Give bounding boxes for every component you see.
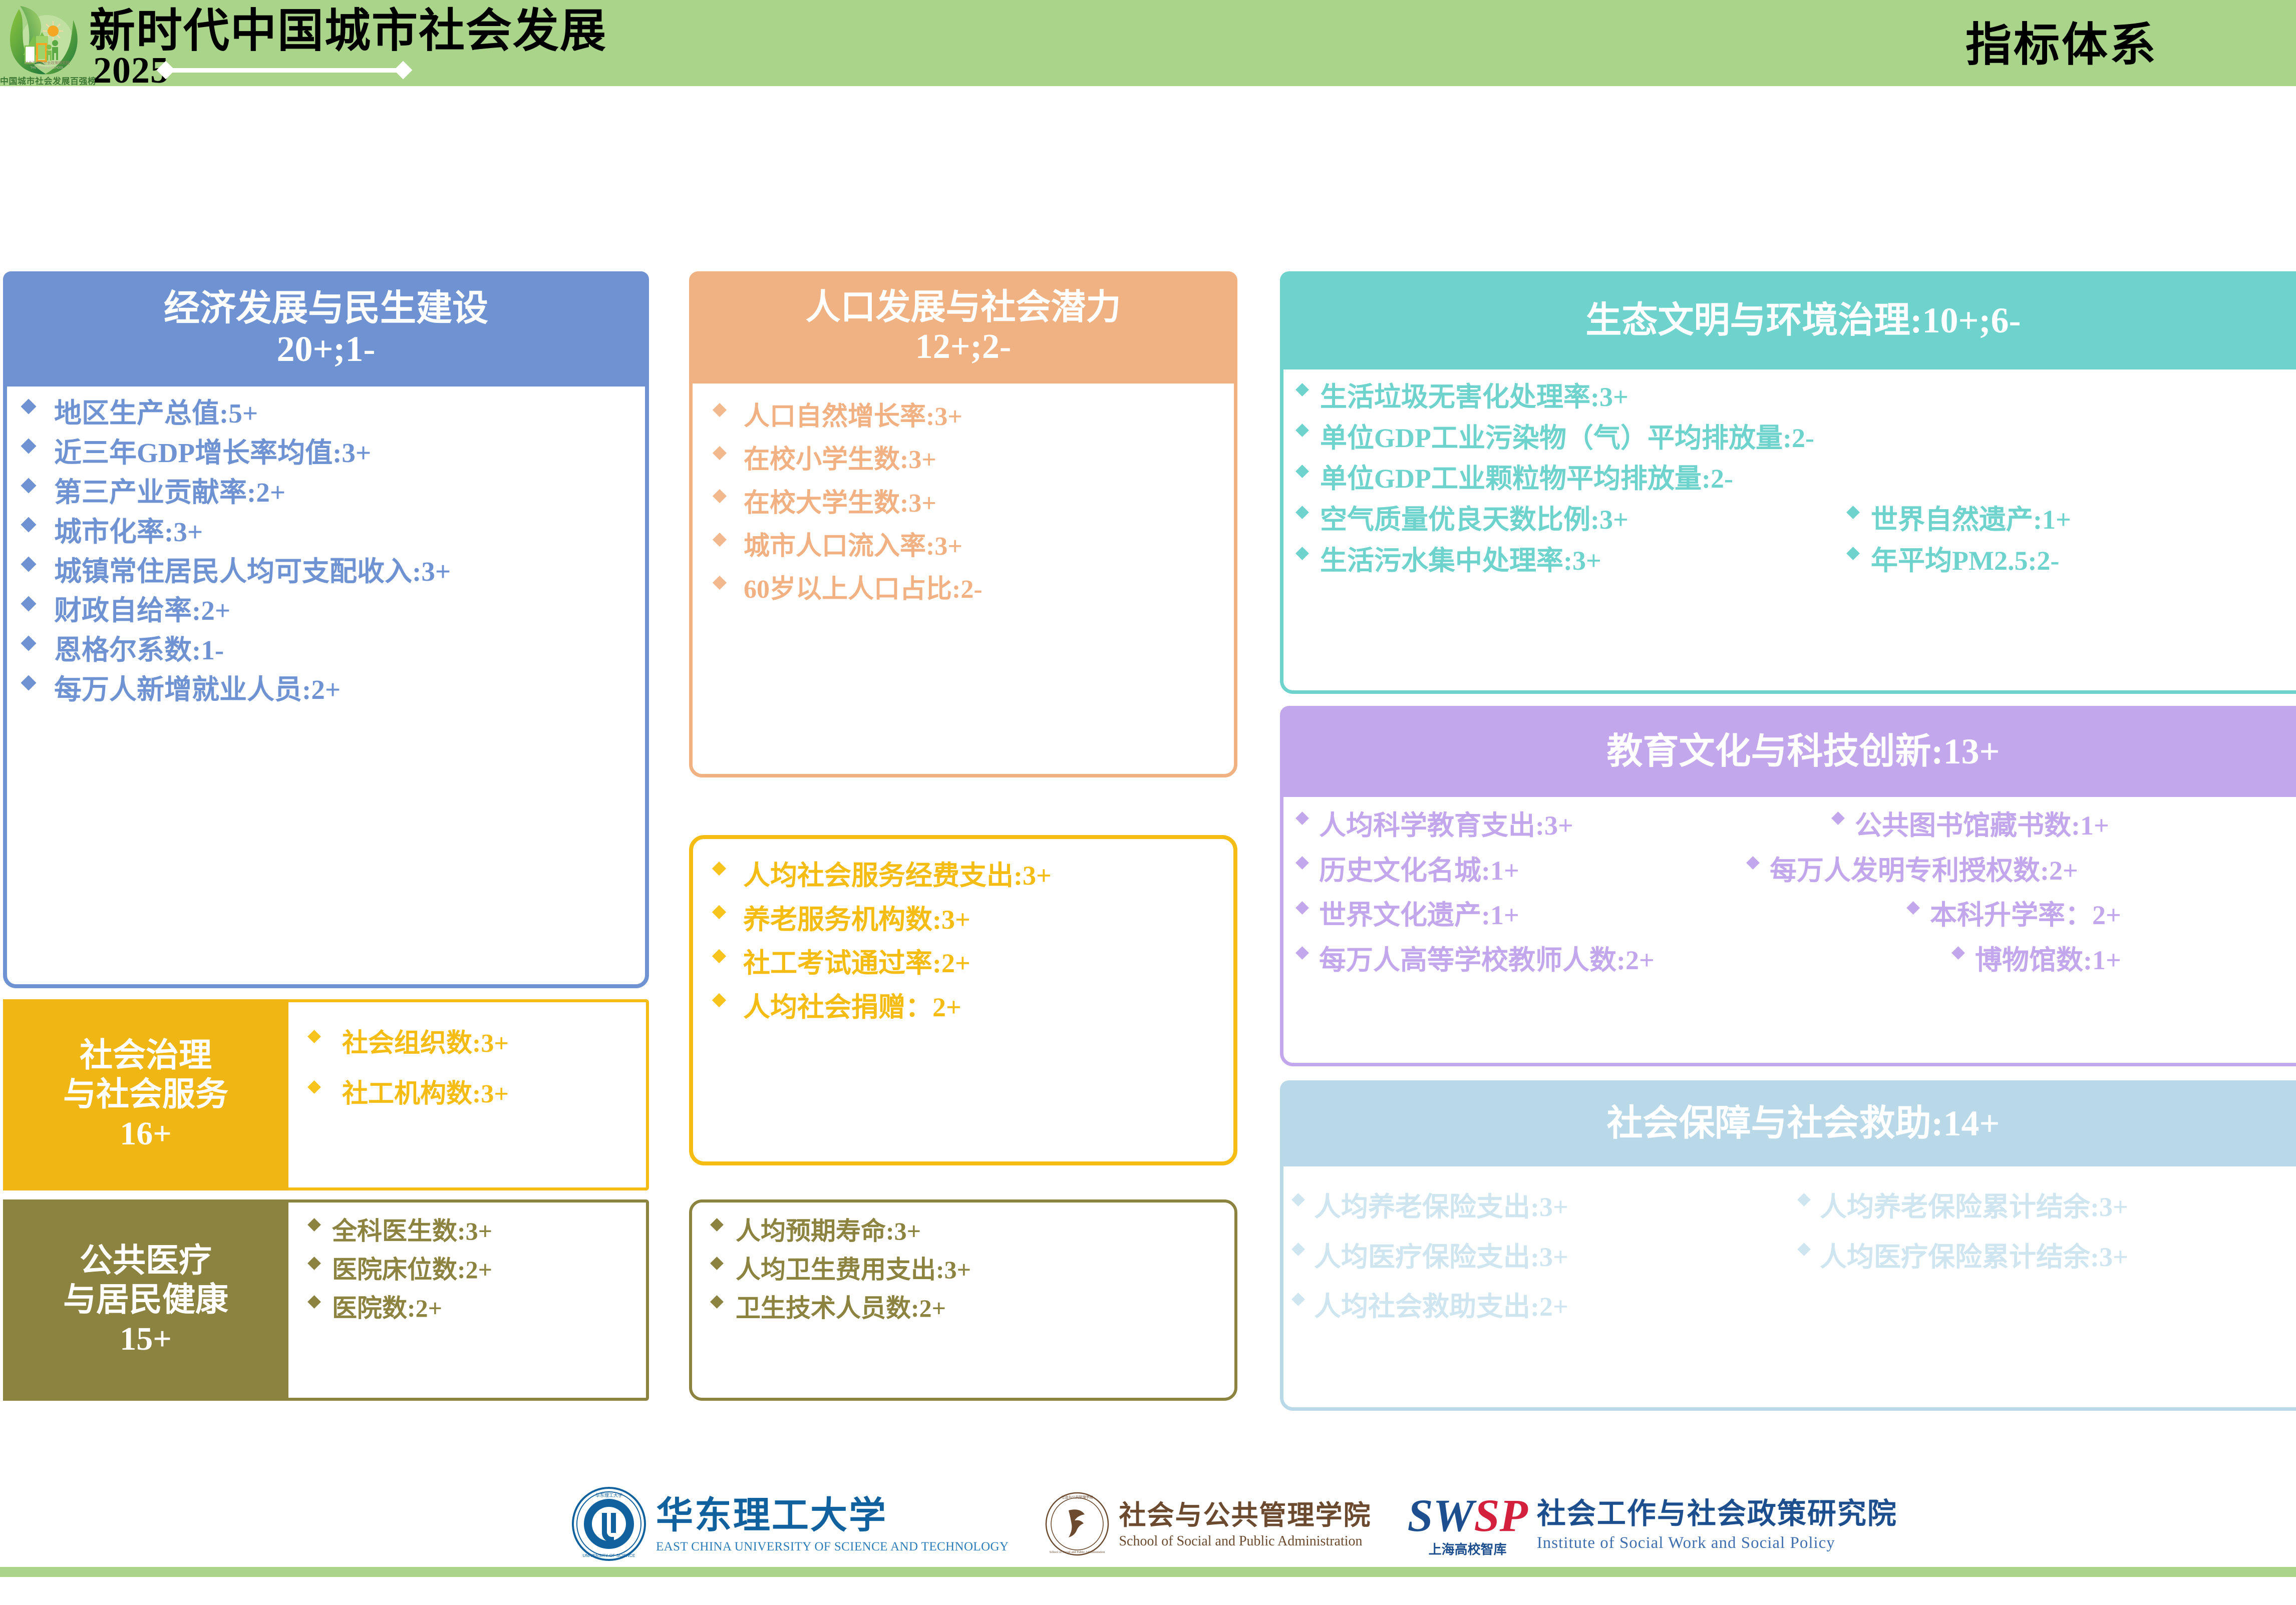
diamond-bullet-icon [713, 533, 727, 547]
list-item[interactable]: 单位GDP工业污染物（气）平均排放量:2- [1294, 423, 2296, 455]
list-item[interactable]: 城镇常住居民人均可支配收入:3+ [16, 556, 638, 588]
footer-logo-group: 华东理工大学 UNIVERSITY OF SCIENCE 华东理工大学 EAST… [571, 1486, 1897, 1564]
diamond-bullet-icon [1295, 901, 1309, 915]
list-item[interactable]: 在校大学生数:3+ [715, 488, 1229, 519]
list-item-label: 财政自给率:2+ [54, 595, 230, 627]
list-item-label: 地区生产总值:5+ [54, 397, 258, 430]
list-row: 人均养老保险支出:3+ 人均养老保险累计结余:3+ [1290, 1191, 2296, 1224]
diamond-bullet-icon [1951, 946, 1965, 960]
card-economy-header: 经济发展与民生建设 20+;1- [3, 271, 649, 386]
list-item[interactable]: 生活污水集中处理率:3+ [1294, 545, 1845, 577]
list-item[interactable]: 人均养老保险累计结余:3+ [1796, 1191, 2128, 1224]
list-item-label: 生活垃圾无害化处理率:3+ [1320, 381, 1628, 414]
card-economy-list: 地区生产总值:5+ 近三年GDP增长率均值:3+ 第三产业贡献率:2+ 城市化率… [7, 386, 645, 706]
list-item-label: 人均养老保险支出:3+ [1314, 1191, 1568, 1224]
card-governance-title-1: 社会治理 [80, 1036, 212, 1075]
list-item[interactable]: 财政自给率:2+ [16, 595, 638, 627]
list-item-label: 人均医疗保险支出:3+ [1314, 1242, 1568, 1274]
list-item[interactable]: 近三年GDP增长率均值:3+ [16, 437, 638, 470]
list-item[interactable]: 世界文化遗产:1+ [1294, 900, 1905, 932]
diamond-bullet-icon [1797, 1193, 1811, 1207]
svg-text:THE CASE OF SCHOOL: THE CASE OF SCHOOL [30, 67, 64, 70]
list-item[interactable]: 在校小学生数:3+ [715, 445, 1229, 475]
swsp-mark-sub: 上海高校智库 [1407, 1539, 1527, 1558]
list-item-label: 全科医生数:3+ [332, 1217, 492, 1246]
card-social-security-list: 人均养老保险支出:3+ 人均养老保险累计结余:3+ 人均医疗保险支出:3+ 人均… [1283, 1166, 2296, 1323]
list-item-label: 人均社会服务经费支出:3+ [743, 860, 1052, 892]
list-item-label: 博物馆数:1+ [1975, 945, 2121, 977]
diamond-bullet-icon [21, 596, 36, 612]
diamond-bullet-icon [21, 438, 36, 454]
list-row: 每万人高等学校教师人数:2+ 博物馆数:1+ [1294, 945, 2296, 977]
list-item[interactable]: 社工考试通过率:2+ [714, 948, 1224, 980]
list-item[interactable]: 人均养老保险支出:3+ [1290, 1191, 1796, 1224]
list-item-label: 本科升学率：2+ [1930, 900, 2121, 932]
card-governance-header: 社会治理 与社会服务 16+ [3, 999, 288, 1190]
svg-text:华东理工大学: 华东理工大学 [595, 1492, 622, 1498]
list-item-label: 城市化率:3+ [54, 516, 203, 549]
diamond-bullet-icon [710, 1218, 724, 1232]
card-population-list: 人口自然增长率:3+ 在校小学生数:3+ 在校大学生数:3+ 城市人口流入率:3… [693, 383, 1234, 605]
swsp-mark-blue: SW [1407, 1490, 1474, 1541]
list-item[interactable]: 人口自然增长率:3+ [715, 402, 1229, 432]
card-economy-count: 20+;1- [277, 329, 376, 369]
card-social-security-header: 社会保障与社会救助:14+ [1280, 1080, 2296, 1166]
list-item[interactable]: 博物馆数:1+ [1950, 945, 2121, 977]
diamond-bullet-icon [1295, 465, 1309, 478]
card-ecology: 生态文明与环境治理:10+;6- 生活垃圾无害化处理率:3+ 单位GDP工业污染… [1280, 271, 2296, 694]
diamond-bullet-icon [712, 949, 726, 963]
card-social-security: 社会保障与社会救助:14+ 人均养老保险支出:3+ 人均养老保险累计结余:3+ … [1280, 1080, 2296, 1411]
card-health-title-2: 与居民健康 [63, 1281, 228, 1320]
list-item-label: 单位GDP工业污染物（气）平均排放量:2- [1320, 423, 1814, 455]
list-row: 人均科学教育支出:3+ 公共图书馆藏书数:1+ [1294, 810, 2296, 842]
card-health-right: 人均预期寿命:3+ 人均卫生费用支出:3+ 卫生技术人员数:2+ [689, 1199, 1237, 1401]
diamond-bullet-icon [1831, 812, 1845, 825]
card-governance-title-2: 与社会服务 [63, 1075, 228, 1114]
list-item[interactable]: 养老服务机构数:3+ [714, 904, 1224, 936]
list-item[interactable]: 60岁以上人口占比:2- [715, 574, 1229, 605]
list-item[interactable]: 全科医生数:3+ [300, 1217, 643, 1246]
diamond-bullet-icon [1295, 506, 1309, 519]
list-item-label: 城镇常住居民人均可支配收入:3+ [54, 556, 451, 588]
card-education-list: 人均科学教育支出:3+ 公共图书馆藏书数:1+ 历史文化名城:1+ 每万人发明专… [1283, 797, 2296, 977]
diamond-bullet-icon [1797, 1243, 1811, 1257]
swsp-mark-red: SP [1474, 1490, 1527, 1541]
list-item[interactable]: 历史文化名城:1+ [1294, 855, 1745, 887]
school-name-cn: 社会与公共管理学院 [1119, 1501, 1371, 1530]
swsp-wordmark-icon: SWSP 上海高校智库 [1407, 1492, 1527, 1558]
list-row: 空气质量优良天数比例:3+ 世界自然遗产:1+ [1294, 504, 2296, 536]
card-health-title-1: 公共医疗 [80, 1242, 212, 1281]
list-item-label: 人均科学教育支出:3+ [1319, 810, 1573, 842]
diamond-bullet-icon [713, 446, 727, 460]
page-title: 新时代中国城市社会发展 [89, 8, 607, 54]
card-social-security-title: 社会保障与社会救助:14+ [1606, 1103, 2000, 1144]
list-item[interactable]: 每万人新增就业人员:2+ [16, 674, 638, 706]
list-item[interactable]: 人均社会救助支出:2+ [1290, 1291, 2296, 1323]
diamond-bullet-icon [1295, 946, 1309, 960]
list-item[interactable]: 空气质量优良天数比例:3+ [1294, 504, 1845, 536]
diamond-bullet-icon [21, 675, 36, 690]
list-item-label: 恩格尔系数:1- [54, 634, 224, 667]
list-item[interactable]: 人均社会服务经费支出:3+ [714, 860, 1224, 892]
diamond-bullet-icon [21, 478, 36, 493]
list-item[interactable]: 年平均PM2.5:2- [1845, 545, 2059, 577]
list-item[interactable]: 世界自然遗产:1+ [1845, 504, 2071, 536]
page-header: 社会工作与社会政策研究院 THE CASE OF SCHOOL 中国城市社会发展… [0, 0, 2296, 86]
card-population: 人口发展与社会潜力 12+;2- 人口自然增长率:3+ 在校小学生数:3+ 在校… [689, 271, 1237, 777]
list-item-label: 人均医疗保险累计结余:3+ [1820, 1242, 2128, 1274]
list-item[interactable]: 医院床位数:2+ [300, 1255, 643, 1285]
list-item-label: 年平均PM2.5:2- [1871, 545, 2059, 577]
card-social-service: 人均社会服务经费支出:3+ 养老服务机构数:3+ 社工考试通过率:2+ 人均社会… [689, 835, 1237, 1165]
diamond-bullet-icon [1291, 1243, 1305, 1257]
diamond-bullet-icon [21, 636, 36, 651]
card-health: 公共医疗 与居民健康 15+ 全科医生数:3+ 医院床位数:2+ 医院数:2+ [3, 1199, 649, 1401]
card-population-header: 人口发展与社会潜力 12+;2- [689, 271, 1237, 383]
list-item[interactable]: 城市人口流入率:3+ [715, 531, 1229, 562]
diamond-bullet-icon [712, 905, 726, 919]
footer-green-bar [0, 1567, 2296, 1577]
svg-text:UNIVERSITY OF SCIENCE: UNIVERSITY OF SCIENCE [582, 1553, 635, 1558]
swsp-name-cn: 社会工作与社会政策研究院 [1537, 1499, 1897, 1529]
diamond-bullet-icon [713, 489, 727, 503]
divider-diamond-right [394, 61, 413, 80]
list-item-label: 空气质量优良天数比例:3+ [1320, 504, 1628, 536]
diamond-bullet-icon [1291, 1293, 1305, 1306]
diamond-bullet-icon [712, 862, 726, 876]
diamond-bullet-icon [713, 403, 727, 417]
diamond-bullet-icon [1746, 857, 1760, 870]
list-item[interactable]: 本科升学率：2+ [1905, 900, 2121, 932]
card-health-count: 15+ [120, 1320, 172, 1359]
list-item[interactable]: 第三产业贡献率:2+ [16, 477, 638, 509]
card-ecology-title: 生态文明与环境治理:10+;6- [1586, 300, 2021, 341]
list-row: 世界文化遗产:1+ 本科升学率：2+ [1294, 900, 2296, 932]
list-item-label: 人均养老保险累计结余:3+ [1820, 1191, 2128, 1224]
diamond-bullet-icon [1295, 547, 1309, 560]
list-item-label: 世界文化遗产:1+ [1319, 900, 1519, 932]
brand-logo: 社会工作与社会政策研究院 THE CASE OF SCHOOL [4, 2, 89, 86]
list-item[interactable]: 每万人发明专利授权数:2+ [1745, 855, 2078, 887]
list-item[interactable]: 医院数:2+ [300, 1294, 643, 1323]
school-seal-icon: 社会与公共管理学院 School of Social and Public Ad… [1045, 1491, 1110, 1559]
list-row: 生活污水集中处理率:3+ 年平均PM2.5:2- [1294, 545, 2296, 577]
diamond-bullet-icon [21, 517, 36, 533]
list-item-label: 人均社会救助支出:2+ [1314, 1291, 1568, 1323]
diamond-bullet-icon [307, 1080, 321, 1094]
diamond-bullet-icon [307, 1295, 321, 1309]
list-item-label: 城市人口流入率:3+ [744, 531, 962, 562]
list-item[interactable]: 单位GDP工业颗粒物平均排放量:2- [1294, 463, 2296, 495]
list-item[interactable]: 社工机构数:3+ [302, 1079, 641, 1109]
list-item[interactable]: 地区生产总值:5+ [16, 397, 638, 430]
diamond-bullet-icon [1295, 383, 1309, 396]
card-population-title: 人口发展与社会潜力 [806, 288, 1121, 327]
ecust-seal-icon: 华东理工大学 UNIVERSITY OF SCIENCE [571, 1486, 647, 1564]
card-education-header: 教育文化与科技创新:13+ [1280, 706, 2296, 797]
list-item-label: 卫生技术人员数:2+ [736, 1294, 946, 1323]
list-item-label: 每万人发明专利授权数:2+ [1770, 855, 2078, 887]
list-item-label: 人均社会捐赠：2+ [743, 992, 961, 1024]
list-item[interactable]: 生活垃圾无害化处理率:3+ [1294, 381, 2296, 414]
diamond-bullet-icon [1291, 1193, 1305, 1207]
leaf-city-logo-icon: 社会工作与社会政策研究院 THE CASE OF SCHOOL [4, 2, 89, 77]
card-ecology-list: 生活垃圾无害化处理率:3+ 单位GDP工业污染物（气）平均排放量:2- 单位GD… [1283, 369, 2296, 577]
card-economy-title: 经济发展与民生建设 [164, 288, 488, 329]
svg-text:School of Social and Public Ad: School of Social and Public Administrati… [1050, 1550, 1106, 1554]
ecust-name-cn: 华东理工大学 [656, 1497, 1009, 1536]
divider-bar [166, 68, 403, 73]
svg-text:社会工作与社会政策研究院: 社会工作与社会政策研究院 [25, 60, 70, 65]
list-item-label: 每万人新增就业人员:2+ [54, 674, 341, 706]
card-governance-count: 16+ [120, 1114, 172, 1153]
list-item-label: 养老服务机构数:3+ [743, 904, 970, 936]
school-name-en: School of Social and Public Administrati… [1119, 1534, 1371, 1548]
ecust-name-en: EAST CHINA UNIVERSITY OF SCIENCE AND TEC… [656, 1540, 1009, 1553]
list-item-label: 近三年GDP增长率均值:3+ [54, 437, 371, 470]
logo-caption: 中国城市社会发展百强榜 [0, 74, 87, 87]
card-health-header: 公共医疗 与居民健康 15+ [3, 1199, 288, 1401]
header-divider [159, 66, 410, 75]
diamond-bullet-icon [1295, 857, 1309, 870]
list-item-label: 医院床位数:2+ [332, 1255, 492, 1285]
list-item[interactable]: 人均医疗保险支出:3+ [1290, 1242, 1796, 1274]
list-row: 历史文化名城:1+ 每万人发明专利授权数:2+ [1294, 855, 2296, 887]
card-social-service-list: 人均社会服务经费支出:3+ 养老服务机构数:3+ 社工考试通过率:2+ 人均社会… [693, 839, 1233, 1024]
diamond-bullet-icon [710, 1257, 724, 1270]
card-governance-list: 社会组织数:3+ 社工机构数:3+ [288, 1002, 646, 1187]
card-health-list-left: 全科医生数:3+ 医院床位数:2+ 医院数:2+ [288, 1202, 646, 1398]
list-item-label: 在校大学生数:3+ [744, 488, 936, 519]
list-item-label: 医院数:2+ [332, 1294, 442, 1323]
list-item-label: 世界自然遗产:1+ [1871, 504, 2071, 536]
card-ecology-header: 生态文明与环境治理:10+;6- [1280, 271, 2296, 369]
list-item-label: 60岁以上人口占比:2- [744, 574, 982, 605]
list-item[interactable]: 城市化率:3+ [16, 516, 638, 549]
list-item[interactable]: 人均卫生费用支出:3+ [712, 1255, 1229, 1285]
list-item[interactable]: 人均社会捐赠：2+ [714, 992, 1224, 1024]
card-education-title: 教育文化与科技创新:13+ [1606, 731, 2000, 772]
svg-text:社会与公共管理学院: 社会与公共管理学院 [1062, 1495, 1093, 1499]
list-item[interactable]: 每万人高等学校教师人数:2+ [1294, 945, 1950, 977]
logo-ecust: 华东理工大学 UNIVERSITY OF SCIENCE 华东理工大学 EAST… [571, 1486, 1009, 1564]
logo-swsp: SWSP 上海高校智库 社会工作与社会政策研究院 Institute of So… [1407, 1492, 1897, 1558]
list-item[interactable]: 恩格尔系数:1- [16, 634, 638, 667]
diamond-bullet-icon [1295, 812, 1309, 825]
list-item[interactable]: 卫生技术人员数:2+ [712, 1294, 1229, 1323]
card-governance: 社会治理 与社会服务 16+ 社会组织数:3+ 社工机构数:3+ [3, 999, 649, 1190]
list-row: 人均医疗保险支出:3+ 人均医疗保险累计结余:3+ [1290, 1242, 2296, 1274]
list-item[interactable]: 社会组织数:3+ [302, 1028, 641, 1059]
card-economy: 经济发展与民生建设 20+;1- 地区生产总值:5+ 近三年GDP增长率均值:3… [3, 271, 649, 988]
card-population-count: 12+;2- [915, 327, 1012, 366]
diamond-bullet-icon [1295, 424, 1309, 438]
card-education: 教育文化与科技创新:13+ 人均科学教育支出:3+ 公共图书馆藏书数:1+ 历史… [1280, 706, 2296, 1066]
diamond-bullet-icon [712, 993, 726, 1007]
list-item[interactable]: 公共图书馆藏书数:1+ [1830, 810, 2109, 842]
logo-school: 社会与公共管理学院 School of Social and Public Ad… [1045, 1491, 1371, 1559]
list-item-label: 生活污水集中处理率:3+ [1320, 545, 1601, 577]
diamond-bullet-icon [710, 1295, 724, 1309]
list-item-label: 公共图书馆藏书数:1+ [1855, 810, 2109, 842]
list-item[interactable]: 人均科学教育支出:3+ [1294, 810, 1830, 842]
page-subtitle: 指标体系 [1965, 22, 2158, 68]
page-footer: 华东理工大学 UNIVERSITY OF SCIENCE 华东理工大学 EAST… [0, 1482, 2296, 1605]
diamond-bullet-icon [307, 1030, 321, 1043]
swsp-name-en: Institute of Social Work and Social Poli… [1537, 1534, 1897, 1552]
list-item-label: 第三产业贡献率:2+ [54, 477, 285, 509]
list-item-label: 社工考试通过率:2+ [743, 948, 970, 980]
diamond-bullet-icon [1846, 506, 1860, 519]
diamond-bullet-icon [307, 1218, 321, 1232]
list-item-label: 单位GDP工业颗粒物平均排放量:2- [1320, 463, 1733, 495]
list-item[interactable]: 人均预期寿命:3+ [712, 1217, 1229, 1246]
list-item-label: 社会组织数:3+ [342, 1028, 509, 1059]
diamond-bullet-icon [1906, 901, 1920, 915]
diamond-bullet-icon [307, 1257, 321, 1270]
list-item-label: 历史文化名城:1+ [1319, 855, 1519, 887]
card-health-list-right: 人均预期寿命:3+ 人均卫生费用支出:3+ 卫生技术人员数:2+ [692, 1202, 1234, 1323]
list-item-label: 每万人高等学校教师人数:2+ [1319, 945, 1655, 977]
list-item-label: 人均卫生费用支出:3+ [736, 1255, 971, 1285]
diamond-bullet-icon [21, 557, 36, 572]
list-item-label: 人均预期寿命:3+ [736, 1217, 921, 1246]
list-item-label: 人口自然增长率:3+ [744, 402, 962, 432]
diamond-bullet-icon [21, 398, 36, 414]
list-item-label: 社工机构数:3+ [342, 1079, 509, 1109]
list-item[interactable]: 人均医疗保险累计结余:3+ [1796, 1242, 2128, 1274]
diamond-bullet-icon [713, 576, 727, 590]
list-item-label: 在校小学生数:3+ [744, 445, 936, 475]
diamond-bullet-icon [1846, 547, 1860, 560]
